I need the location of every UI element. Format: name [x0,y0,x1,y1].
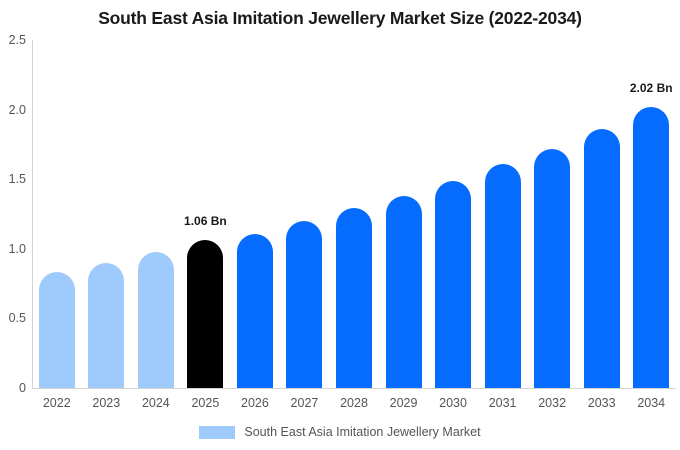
x-axis-tick-2034: 2034 [621,396,680,410]
bar-2022[interactable] [39,272,75,388]
y-axis-tick-2.0: 2.0 [0,103,26,116]
y-axis-tick-2.5: 2.5 [0,34,26,47]
bar-column[interactable] [138,40,174,388]
bar-2034[interactable] [633,107,669,388]
bar-column[interactable] [286,40,322,388]
plot-area: 1.06 Bn2.02 Bn [32,40,676,388]
bar-column[interactable] [88,40,124,388]
bar-column[interactable] [485,40,521,388]
bar-column[interactable] [237,40,273,388]
bar-column[interactable] [534,40,570,388]
legend-swatch-icon [199,426,235,439]
chart-legend: South East Asia Imitation Jewellery Mark… [0,425,680,439]
bar-column[interactable] [39,40,75,388]
y-axis-tick-0.5: 0.5 [0,312,26,325]
bar-column[interactable] [386,40,422,388]
bar-2028[interactable] [336,208,372,388]
bar-column[interactable]: 2.02 Bn [633,40,669,388]
bar-column[interactable] [435,40,471,388]
bar-2029[interactable] [386,196,422,388]
y-axis-tick-1.0: 1.0 [0,243,26,256]
bar-column[interactable] [584,40,620,388]
bar-2033[interactable] [584,129,620,388]
bar-2032[interactable] [534,149,570,388]
bar-2023[interactable] [88,263,124,388]
bar-2030[interactable] [435,181,471,388]
bar-2026[interactable] [237,234,273,389]
bar-2031[interactable] [485,164,521,388]
bar-value-label-2025: 1.06 Bn [184,214,227,228]
bar-2027[interactable] [286,221,322,388]
bar-column[interactable]: 1.06 Bn [187,40,223,388]
bar-chart: South East Asia Imitation Jewellery Mark… [0,0,680,450]
legend-label: South East Asia Imitation Jewellery Mark… [244,425,480,439]
y-axis-tick-1.5: 1.5 [0,173,26,186]
bar-2025[interactable] [187,240,223,388]
x-axis-line [32,388,676,389]
y-axis-tick-0: 0 [0,382,26,395]
bar-column[interactable] [336,40,372,388]
bar-2024[interactable] [138,252,174,388]
bar-value-label-2034: 2.02 Bn [630,81,673,95]
